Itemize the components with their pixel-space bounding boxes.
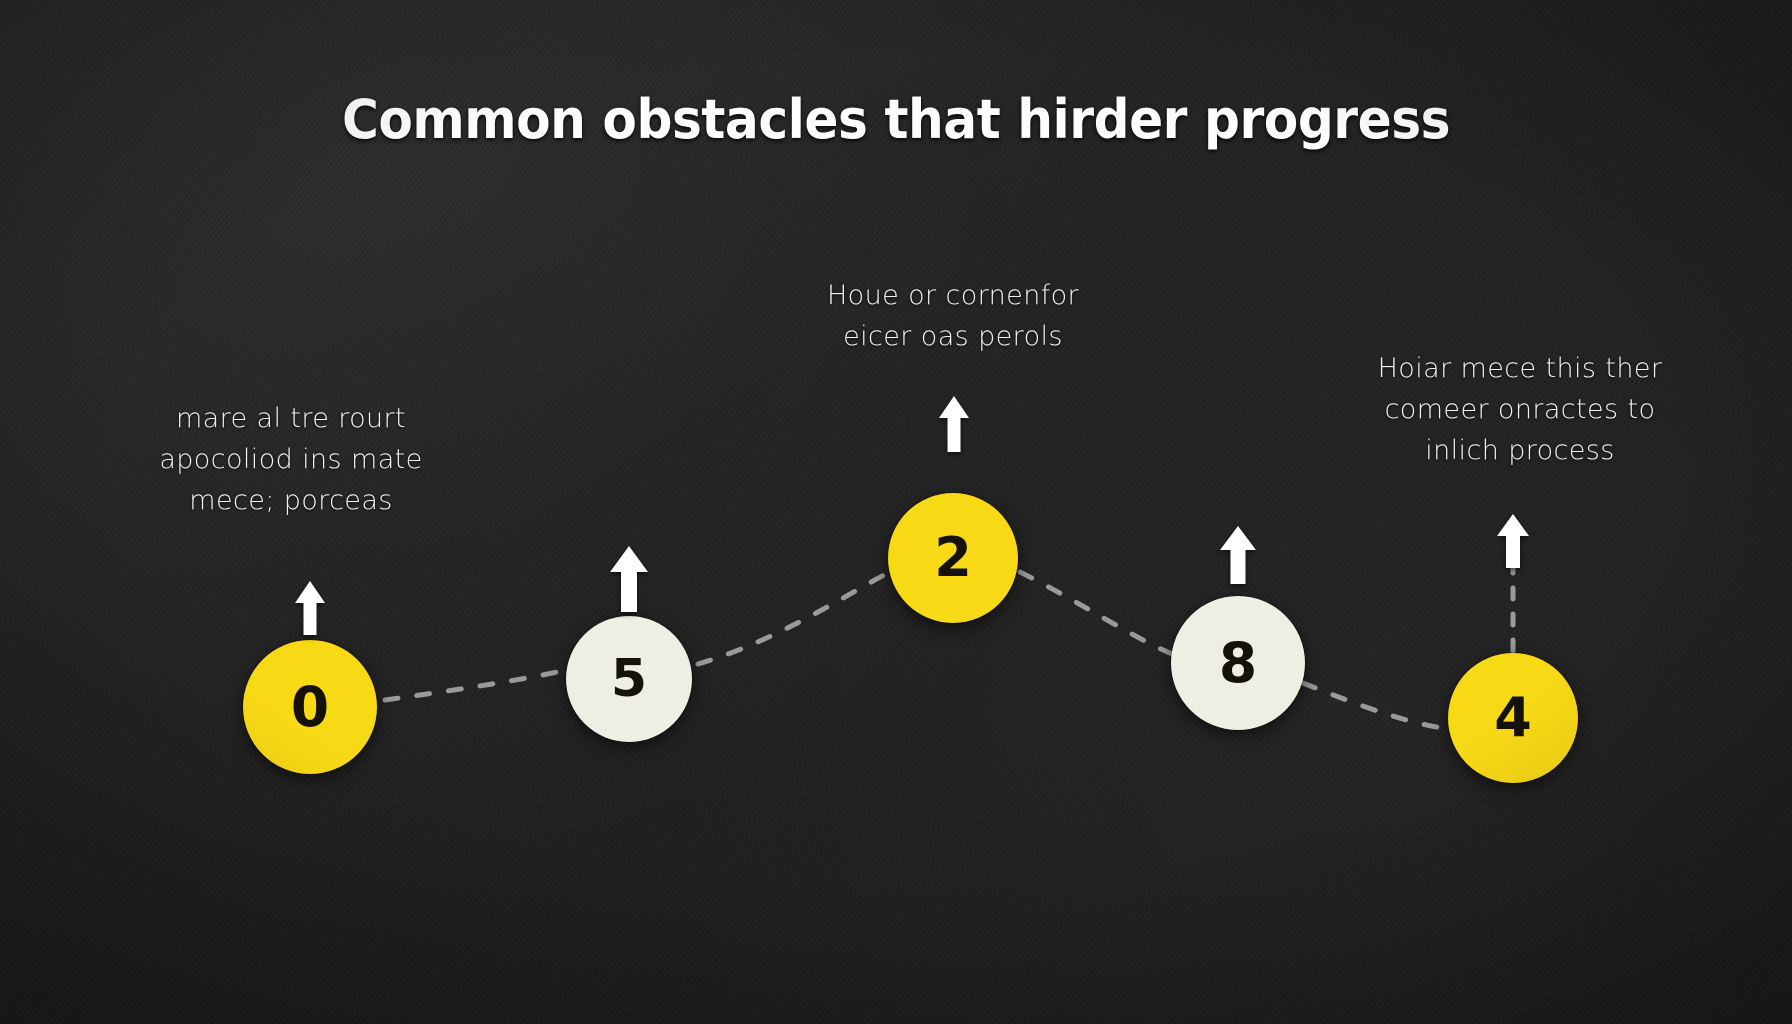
node-value: 8 (1219, 636, 1257, 691)
label-right-line: comeer onractes to (1345, 389, 1695, 430)
node-value: 4 (1494, 691, 1532, 745)
label-center-line: eicer oas perols (793, 316, 1113, 357)
node-circle[interactable]: 0 (243, 640, 377, 774)
node-circle[interactable]: 8 (1171, 596, 1305, 730)
up-arrow-icon (1217, 524, 1259, 586)
node-circle[interactable]: 5 (566, 616, 692, 742)
label-right-line: Hoiar mece this ther (1345, 348, 1695, 389)
label-center-line: Houe or cornenfor (793, 275, 1113, 316)
node-circle[interactable]: 2 (888, 493, 1018, 623)
connector-5-to-2 (698, 572, 890, 664)
label-right: Hoiar mece this ther comeer onractes to … (1345, 348, 1695, 471)
up-arrow-icon (1494, 512, 1532, 570)
label-right-line: inlich process (1345, 430, 1695, 471)
page-title: Common obstacles that hirder progress (63, 88, 1730, 151)
up-arrow-icon (936, 394, 972, 454)
node-circle[interactable]: 4 (1448, 653, 1578, 783)
node-value: 0 (291, 680, 329, 735)
connector-0-to-5 (385, 671, 562, 700)
up-arrow-icon (292, 579, 328, 637)
label-left: mare al tre rourt apocoliod ins mate mec… (136, 398, 446, 521)
up-arrow-icon (607, 544, 651, 614)
label-left-line: mece; porceas (136, 480, 446, 521)
node-value: 2 (934, 531, 972, 585)
label-left-line: mare al tre rourt (136, 398, 446, 439)
label-left-line: apocoliod ins mate (136, 439, 446, 480)
connector-2-to-8 (1020, 572, 1172, 654)
label-center: Houe or cornenfor eicer oas perols (793, 275, 1113, 357)
node-value: 5 (611, 653, 647, 705)
infographic-canvas: Common obstacles that hirder progress 0 … (0, 0, 1792, 1024)
connector-8-to-4 (1303, 683, 1449, 729)
